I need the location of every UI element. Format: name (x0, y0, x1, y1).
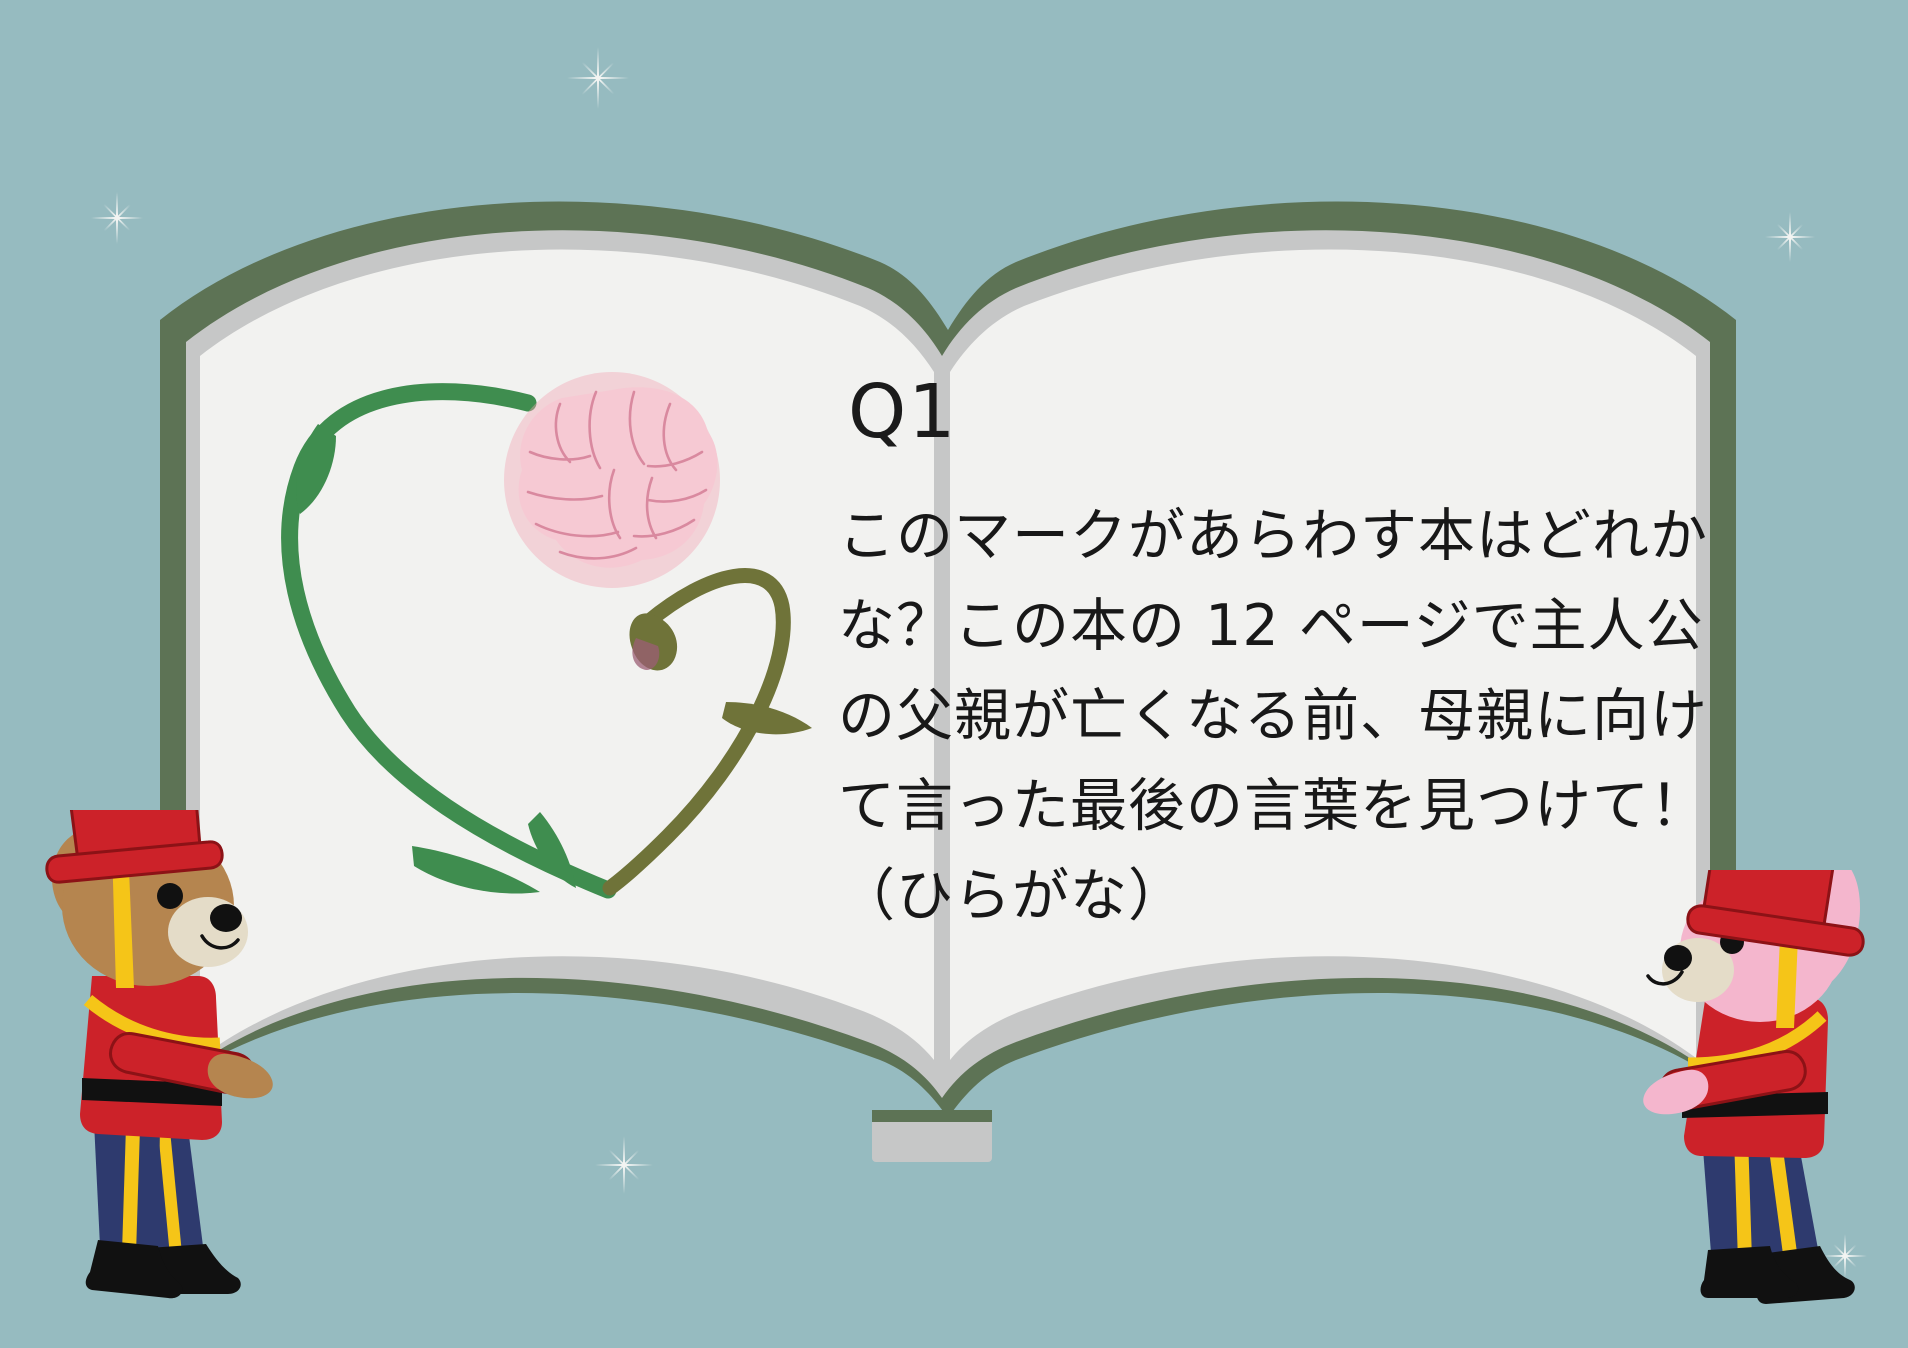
question-label: Q1 (848, 375, 1758, 449)
rabbit-soldier (1610, 870, 1908, 1348)
question-line-3: の父親が亡くなる前、母親に向け (838, 671, 1758, 761)
question-line-1: このマークがあらわす本はどれか (838, 491, 1758, 581)
slide-canvas: Q1 このマークがあらわす本はどれか な？この本の 12 ページで主人公 の父親… (0, 0, 1908, 1348)
question-line-4: て言った最後の言葉を見つけて！ (838, 761, 1758, 851)
bear-soldier (30, 810, 320, 1340)
rabbit-nose (1664, 945, 1692, 971)
question-line-2: な？この本の 12 ページで主人公 (838, 581, 1758, 671)
book-spine-nub (872, 1118, 992, 1162)
question-block: Q1 このマークがあらわす本はどれか な？この本の 12 ページで主人公 の父親… (838, 375, 1758, 941)
bear-eye (157, 883, 183, 909)
book-spine-shadow (872, 1110, 992, 1122)
bear-nose (210, 904, 242, 932)
question-line-5: （ひらがな） (838, 851, 1758, 941)
